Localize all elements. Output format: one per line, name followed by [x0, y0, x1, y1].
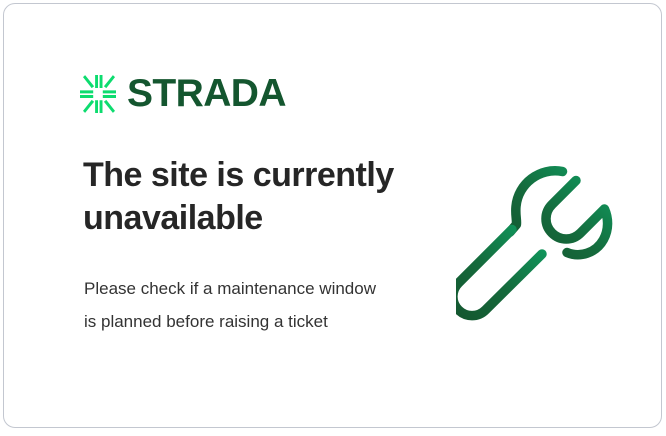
status-card: STRADA The site is currently unavailable… [3, 3, 662, 428]
brand-wordmark: STRADA [127, 74, 286, 113]
page-description: Please check if a maintenance window is … [84, 272, 384, 338]
wrench-icon [456, 156, 622, 322]
page-title: The site is currently unavailable [83, 154, 413, 239]
strada-asterisk-icon [80, 75, 116, 113]
brand-lockup: STRADA [80, 74, 286, 113]
